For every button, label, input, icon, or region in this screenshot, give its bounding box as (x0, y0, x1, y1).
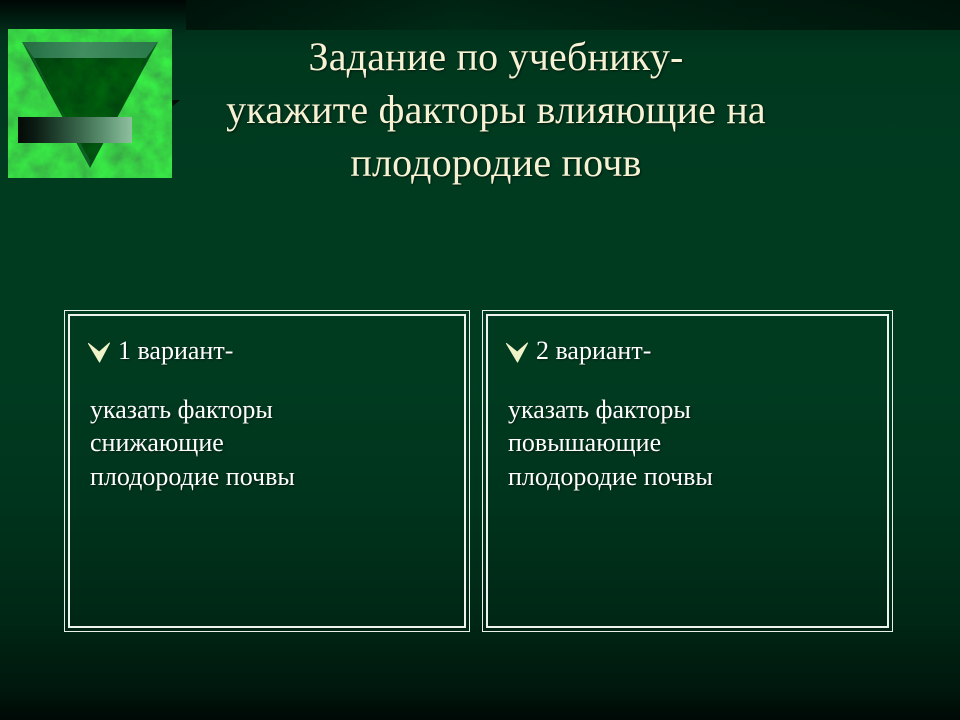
variant-2-body: указать факторы повышающие плодородие по… (504, 393, 875, 494)
presentation-slide: Задание по учебнику- укажите факторы вли… (0, 0, 960, 720)
variant-box-1: 1 вариант- указать факторы снижающие пло… (64, 310, 470, 632)
variant-1-heading-row: 1 вариант- (86, 336, 452, 367)
check-arrow-bullet-icon (504, 340, 532, 364)
variant-2-heading-row: 2 вариант- (504, 336, 875, 367)
slide-title: Задание по учебнику- укажите факторы вли… (96, 30, 896, 190)
variant-1-heading: 1 вариант- (118, 336, 452, 367)
variant-1-body: указать факторы снижающие плодородие поч… (86, 393, 452, 494)
variant-2-heading: 2 вариант- (536, 336, 875, 367)
variant-box-2: 2 вариант- указать факторы повышающие пл… (482, 310, 893, 632)
check-arrow-bullet-icon (86, 340, 114, 364)
slide-background-top-shade (186, 0, 960, 30)
